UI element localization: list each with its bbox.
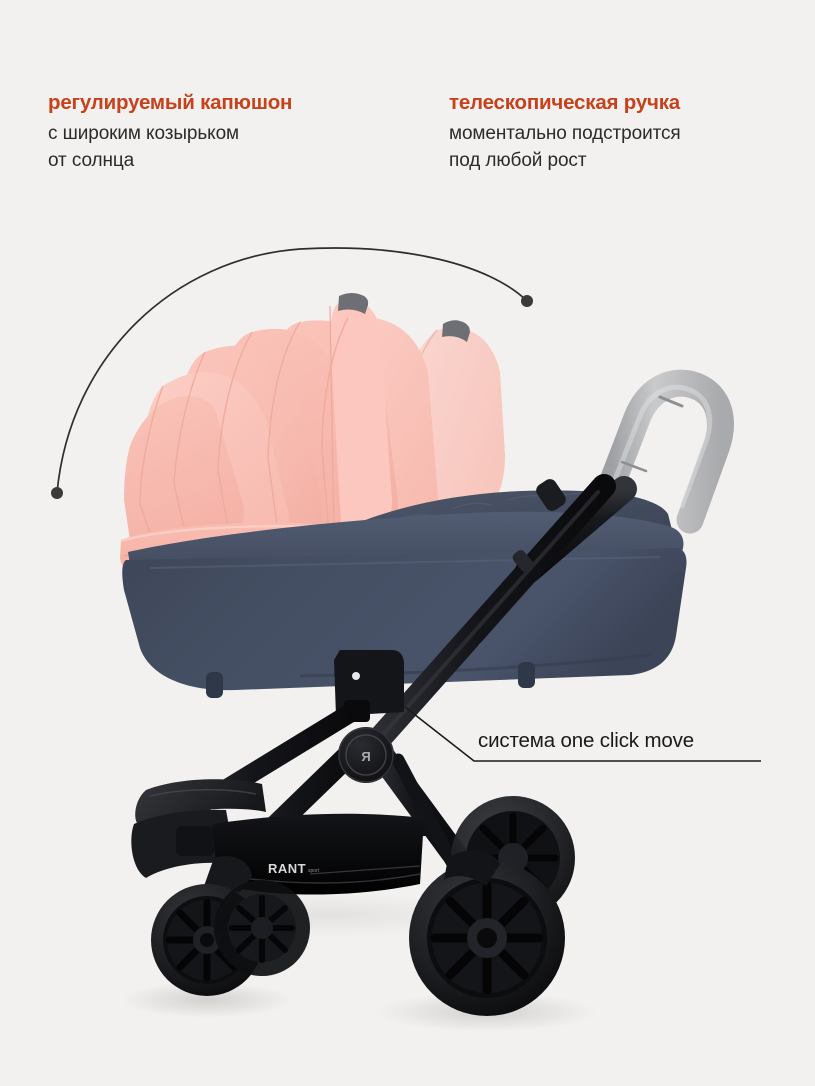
callout-heading: телескопическая ручка (449, 90, 681, 116)
slide-canvas: energy (0, 0, 815, 1086)
brand-mark-sub: sport (308, 868, 320, 874)
callout-subtext: с широким козырьком от солнца (48, 121, 292, 175)
annotation-one-click-move: система one click move (478, 729, 694, 753)
callout-subtext-line: под любой рост (449, 148, 681, 175)
callout-subtext-line: моментально подстроится (449, 121, 681, 148)
callout-telescopic-handle: телескопическая ручка моментально подстр… (449, 90, 681, 175)
callout-heading: регулируемый капюшон (48, 90, 292, 116)
callout-subtext: моментально подстроится под любой рост (449, 121, 681, 175)
one-click-hinge: Я (338, 727, 394, 783)
callout-subtext-line: от солнца (48, 148, 292, 175)
callout-subtext-line: с широким козырьком (48, 121, 292, 148)
callout-adjustable-hood: регулируемый капюшон с широким козырьком… (48, 90, 292, 175)
brand-mark-rant: RANT (268, 861, 306, 876)
hub-monogram: Я (361, 749, 370, 764)
